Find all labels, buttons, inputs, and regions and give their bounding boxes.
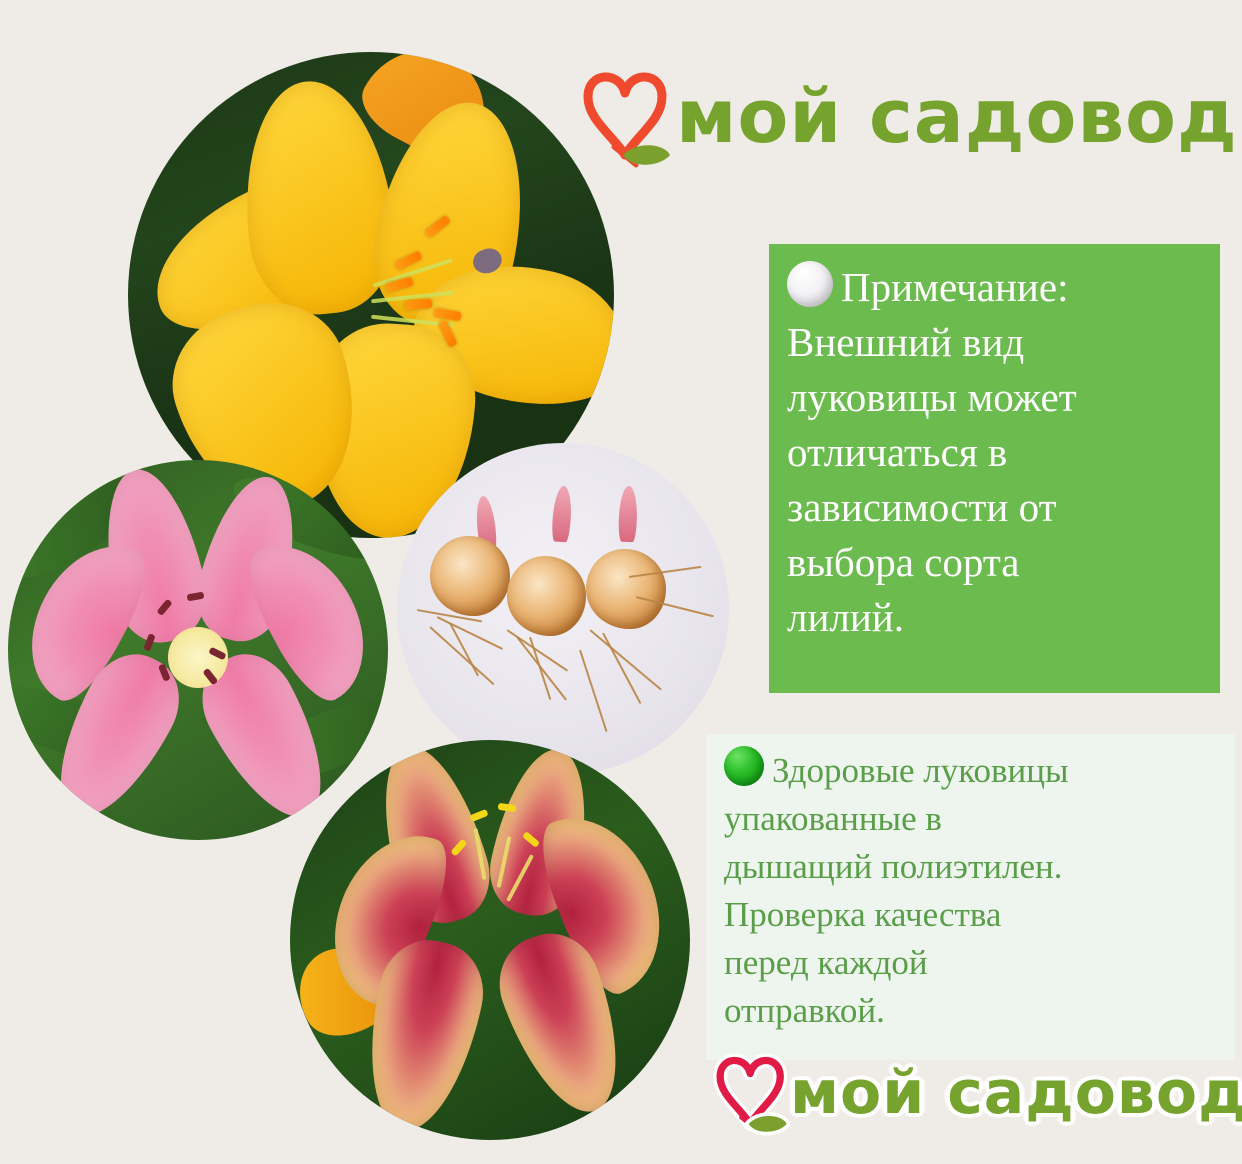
bulb-shape xyxy=(586,549,666,629)
stamen-shape xyxy=(469,809,488,822)
healthy-line: дышащий полиэтилен. xyxy=(724,847,1062,886)
note-line: Примечание: xyxy=(841,264,1068,310)
pink-lily-photo xyxy=(8,460,388,840)
root-shape xyxy=(436,616,503,650)
sprout-shape xyxy=(551,486,573,544)
note-line: Внешний вид xyxy=(787,319,1024,365)
red-yellow-lily-photo xyxy=(290,740,690,1140)
note-panel: Примечание: Внешний вид луковицы может о… xyxy=(769,244,1220,693)
lily-bulbs-photo xyxy=(397,443,729,775)
logo-mark xyxy=(712,1049,790,1137)
root-shape xyxy=(579,650,608,733)
root-shape xyxy=(589,629,661,690)
logo-mark xyxy=(578,63,674,171)
note-line: зависимости от xyxy=(787,484,1056,530)
note-line: луковицы может xyxy=(787,374,1077,420)
stamen-shape xyxy=(405,299,433,310)
healthy-line: Здоровые луковицы xyxy=(772,751,1069,790)
stamen-shape xyxy=(498,803,517,813)
healthy-line: перед каждой xyxy=(724,943,928,982)
healthy-text-block: Здоровые луковицы упакованные в дышащий … xyxy=(724,746,1225,1035)
root-shape xyxy=(430,626,495,685)
brand-logo-top[interactable]: мой садовод xyxy=(578,63,1238,171)
poster-canvas: мой садовод Примечание: Внешний вид луко… xyxy=(0,0,1242,1164)
note-text-block: Примечание: Внешний вид луковицы может о… xyxy=(787,260,1206,645)
healthy-line: упакованные в xyxy=(724,799,942,838)
brand-wordmark: мой садовод xyxy=(790,1063,1242,1123)
sprout-shape xyxy=(618,486,638,543)
note-line: выбора сорта xyxy=(787,539,1020,585)
green-circle-bullet-icon xyxy=(724,746,764,786)
healthy-bulbs-panel: Здоровые луковицы упакованные в дышащий … xyxy=(706,734,1235,1060)
healthy-line: Проверка качества xyxy=(724,895,1001,934)
white-circle-bullet-icon xyxy=(787,261,833,307)
brand-logo-watermark[interactable]: мой садовод xyxy=(712,1049,1242,1137)
note-line: отличаться в xyxy=(787,429,1007,475)
bulb-shape xyxy=(507,556,587,636)
note-line: лилий. xyxy=(787,594,904,640)
brand-wordmark: мой садовод xyxy=(676,80,1238,154)
bulb-shape xyxy=(430,536,510,616)
healthy-line: отправкой. xyxy=(724,991,885,1030)
heart-outline-icon xyxy=(588,77,662,155)
